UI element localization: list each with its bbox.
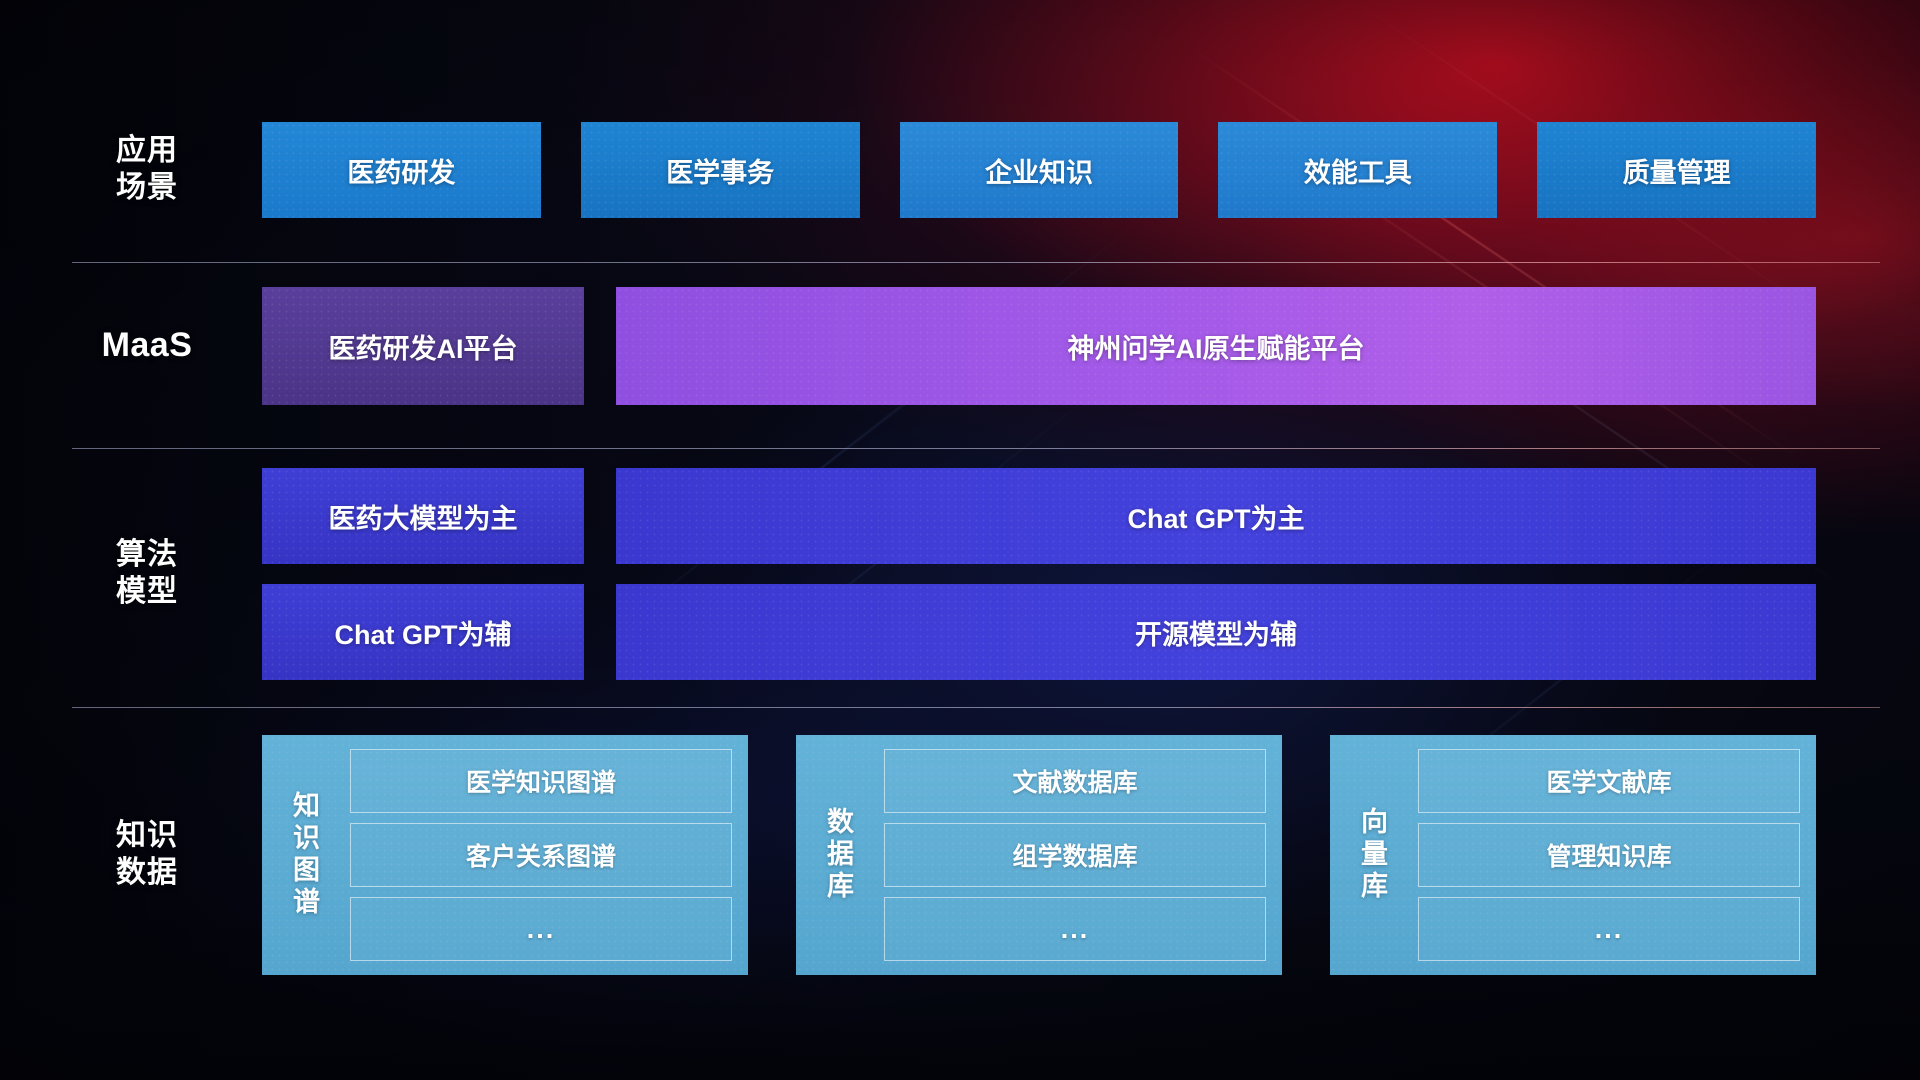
knowledge-panel-label-vector-store: 向量库 xyxy=(1344,749,1406,961)
maas-card-label: 神州问学AI原生赋能平台 xyxy=(1068,327,1365,366)
maas-card-medicine-ai-platform[interactable]: 医药研发AI平台 xyxy=(262,287,584,405)
maas-card-label: 医药研发AI平台 xyxy=(329,327,518,366)
app-card-efficiency-tools[interactable]: 效能工具 xyxy=(1218,122,1497,218)
app-card-label: 医药研发 xyxy=(347,151,455,190)
row-maas: MaaS 医药研发AI平台 神州问学AI原生赋能平台 xyxy=(72,287,1840,405)
app-card-quality-management[interactable]: 质量管理 xyxy=(1537,122,1816,218)
algo-card-chatgpt-primary[interactable]: Chat GPT为主 xyxy=(616,468,1816,564)
row-label-application-scenarios: 应用 场景 xyxy=(72,133,222,206)
row-label-algorithm-model: 算法 模型 xyxy=(72,537,222,610)
knowledge-panel-vector-store[interactable]: 向量库 医学文献库 管理知识库 ... xyxy=(1330,735,1816,975)
app-card-label: 效能工具 xyxy=(1304,151,1412,190)
row-application-scenarios: 应用 场景 医药研发 医学事务 企业知识 效能工具 xyxy=(72,122,1840,218)
app-card-medicine-rd[interactable]: 医药研发 xyxy=(262,122,541,218)
algo-card-label: 开源模型为辅 xyxy=(1135,613,1297,652)
knowledge-panel-database[interactable]: 数据库 文献数据库 组学数据库 ... xyxy=(796,735,1282,975)
algo-card-label: 医药大模型为主 xyxy=(329,497,518,536)
knowledge-item[interactable]: 医学知识图谱 xyxy=(350,749,732,813)
row-label-maas: MaaS xyxy=(72,325,222,366)
divider-after-algorithm xyxy=(72,707,1880,708)
knowledge-panel-label-knowledge-graph: 知识图谱 xyxy=(276,749,338,961)
row-knowledge-data: 知识 数据 知识图谱 医学知识图谱 客户关系图谱 ... xyxy=(72,735,1840,975)
algo-card-medicine-llm-primary[interactable]: 医药大模型为主 xyxy=(262,468,584,564)
knowledge-panel-label-text: 知识图谱 xyxy=(293,791,321,918)
divider-after-application xyxy=(72,262,1880,263)
knowledge-item-more[interactable]: ... xyxy=(350,897,732,961)
app-card-medical-affairs[interactable]: 医学事务 xyxy=(581,122,860,218)
knowledge-panel-label-text: 数据库 xyxy=(827,807,855,903)
algo-card-label: Chat GPT为辅 xyxy=(334,613,511,652)
knowledge-item[interactable]: 医学文献库 xyxy=(1418,749,1800,813)
knowledge-item[interactable]: 管理知识库 xyxy=(1418,823,1800,887)
architecture-diagram: 应用 场景 医药研发 医学事务 企业知识 效能工具 xyxy=(0,0,1920,1080)
app-card-label: 质量管理 xyxy=(1623,151,1731,190)
knowledge-panel-knowledge-graph[interactable]: 知识图谱 医学知识图谱 客户关系图谱 ... xyxy=(262,735,748,975)
knowledge-item[interactable]: 客户关系图谱 xyxy=(350,823,732,887)
divider-after-maas xyxy=(72,448,1880,449)
row-label-knowledge-data: 知识 数据 xyxy=(72,818,222,891)
row-algorithm-model: 算法 模型 医药大模型为主 Chat GPT为主 Chat GPT为辅 xyxy=(72,468,1840,680)
app-card-enterprise-knowledge[interactable]: 企业知识 xyxy=(900,122,1179,218)
app-card-label: 医学事务 xyxy=(666,151,774,190)
knowledge-item[interactable]: 组学数据库 xyxy=(884,823,1266,887)
knowledge-panel-label-text: 向量库 xyxy=(1361,807,1389,903)
knowledge-item-more[interactable]: ... xyxy=(1418,897,1800,961)
algo-card-chatgpt-secondary[interactable]: Chat GPT为辅 xyxy=(262,584,584,680)
maas-card-shenzhou-wenxue-platform[interactable]: 神州问学AI原生赋能平台 xyxy=(616,287,1816,405)
knowledge-item-more[interactable]: ... xyxy=(884,897,1266,961)
knowledge-panel-label-database: 数据库 xyxy=(810,749,872,961)
knowledge-item[interactable]: 文献数据库 xyxy=(884,749,1266,813)
app-card-label: 企业知识 xyxy=(985,151,1093,190)
algo-card-opensource-secondary[interactable]: 开源模型为辅 xyxy=(616,584,1816,680)
algo-card-label: Chat GPT为主 xyxy=(1127,497,1304,536)
